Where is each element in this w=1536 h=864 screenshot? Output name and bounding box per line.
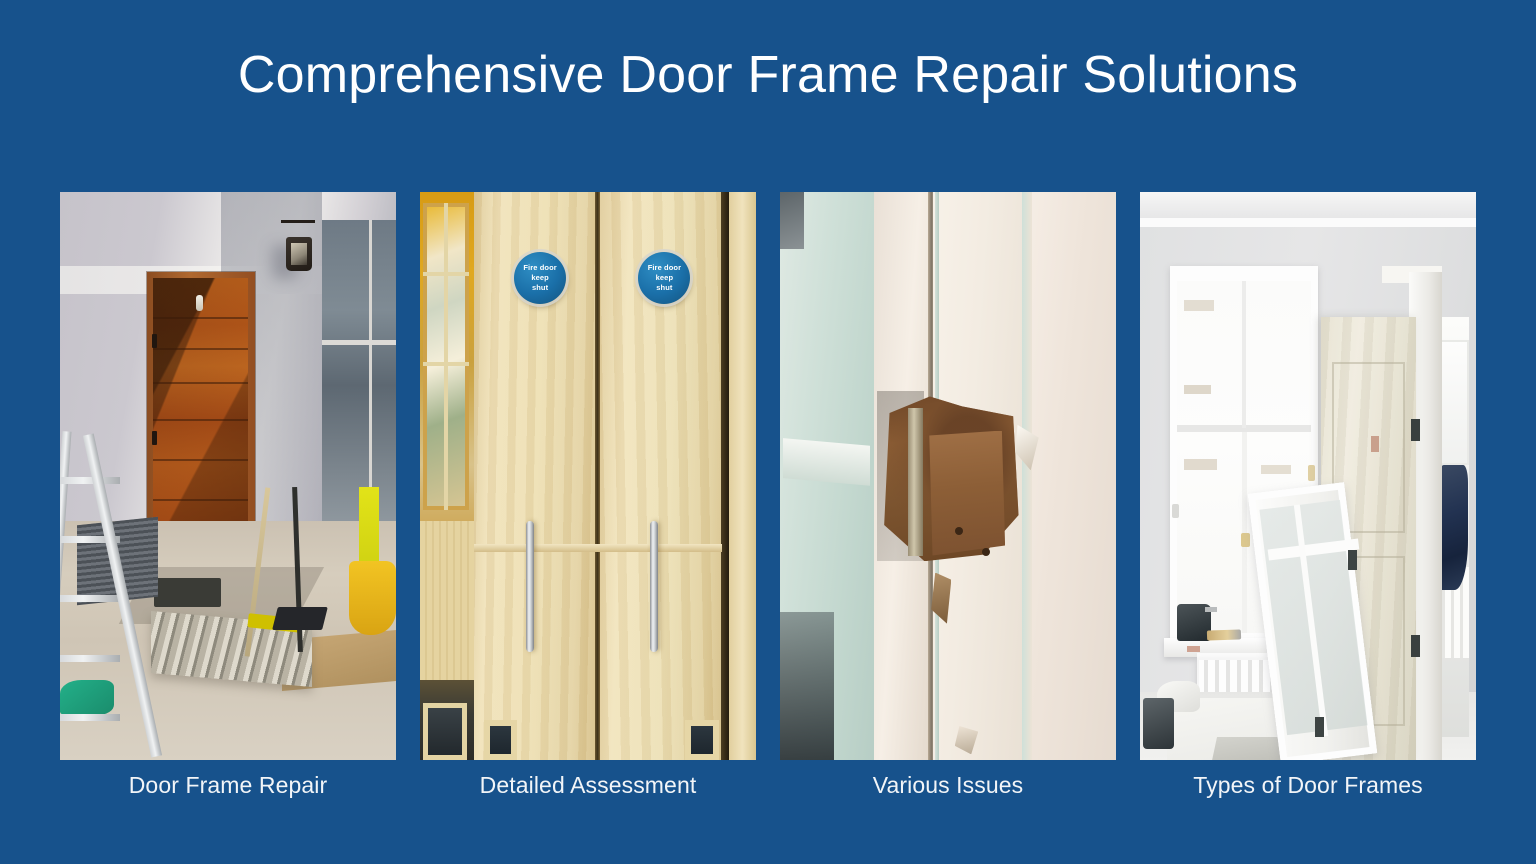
door-rail: [153, 348, 249, 350]
pull-handle: [526, 521, 534, 652]
door-jamb: [729, 192, 756, 760]
window-glazing: [322, 220, 396, 521]
gallery-image-types-of-door-frames[interactable]: [1140, 192, 1476, 760]
caption-door-frame-repair: Door Frame Repair: [60, 772, 396, 799]
pull-handle: [650, 521, 658, 652]
gallery-image-various-issues[interactable]: [780, 192, 1116, 760]
door-moulding: [783, 438, 870, 485]
fire-door-sign-line2: keep: [656, 273, 674, 282]
exposed-hinge-mortice: [924, 431, 1005, 556]
door-hinge: [152, 334, 157, 348]
frame-hinge: [1315, 717, 1324, 737]
screw-hole: [955, 527, 963, 535]
door-hinge: [1411, 419, 1420, 441]
meeting-stile: [595, 192, 600, 760]
caption-detailed-assessment: Detailed Assessment: [420, 772, 756, 799]
vision-panel: [685, 720, 719, 760]
wall-lantern-icon: [286, 237, 312, 271]
door-edge-shadow: [721, 192, 729, 760]
door-lower-rail: [474, 544, 723, 551]
vision-panel: [484, 720, 518, 760]
door-rail: [153, 499, 249, 501]
page-title: Comprehensive Door Frame Repair Solution…: [0, 48, 1536, 103]
screw-hole: [982, 548, 990, 556]
chisel-tool: [1207, 630, 1241, 641]
frame-bevel: [1022, 192, 1032, 760]
door-rail: [153, 459, 249, 461]
window-mullion: [369, 220, 372, 521]
window-mullion: [1242, 281, 1245, 429]
window-handle: [1241, 533, 1250, 547]
yellow-bucket: [349, 561, 396, 635]
dustpan: [272, 607, 328, 630]
wall-surface: [1022, 192, 1116, 760]
door-shadow-bottom: [780, 612, 834, 760]
window-rail: [322, 340, 396, 345]
gallery-image-door-frame-repair[interactable]: [60, 192, 396, 760]
side-lower-glazing: [423, 703, 467, 760]
caption-types-of-door-frames: Types of Door Frames: [1140, 772, 1476, 799]
step-ladder: [60, 431, 161, 760]
door-rail: [153, 317, 249, 319]
image-gallery: Fire door keep shut Fire door keep shut: [60, 192, 1476, 760]
fire-door-sign-line3: shut: [532, 283, 548, 292]
masking-paper: [1261, 465, 1291, 474]
door-rail: [153, 382, 249, 384]
fire-door-sign-line1: Fire door: [523, 263, 556, 272]
cornice: [1140, 218, 1476, 227]
door-handle: [196, 295, 203, 311]
frame-hinge: [1348, 550, 1357, 570]
fire-door-sign-line1: Fire door: [648, 263, 681, 272]
caption-row: Door Frame Repair Detailed Assessment Va…: [60, 772, 1476, 799]
radiator-pipe: [1187, 646, 1200, 652]
masking-paper: [1184, 300, 1214, 311]
door-rail: [153, 419, 249, 421]
masking-paper: [1184, 459, 1218, 470]
door-hinge: [1411, 635, 1420, 657]
frame-mark: [1371, 436, 1379, 452]
door-mat: [154, 578, 221, 606]
door-shadow-top: [780, 192, 804, 249]
fire-door-sign-icon: Fire door keep shut: [514, 252, 566, 304]
side-beading: [420, 521, 474, 680]
gallery-image-detailed-assessment[interactable]: Fire door keep shut Fire door keep shut: [420, 192, 756, 760]
window-handle: [1308, 465, 1315, 481]
cordless-drill-icon: [1177, 604, 1211, 641]
slide-root: { "slide": { "title": "Comprehensive Doo…: [0, 0, 1536, 864]
kettle: [1143, 698, 1173, 749]
window-handle: [1172, 504, 1179, 518]
fire-door-sign-line2: keep: [531, 273, 549, 282]
fire-door-sign-line3: shut: [656, 283, 672, 292]
caption-various-issues: Various Issues: [780, 772, 1116, 799]
lamp-bracket: [281, 220, 315, 223]
hinge-remnant: [908, 408, 923, 556]
masking-paper: [1184, 385, 1211, 394]
glazing-bar: [444, 203, 448, 510]
